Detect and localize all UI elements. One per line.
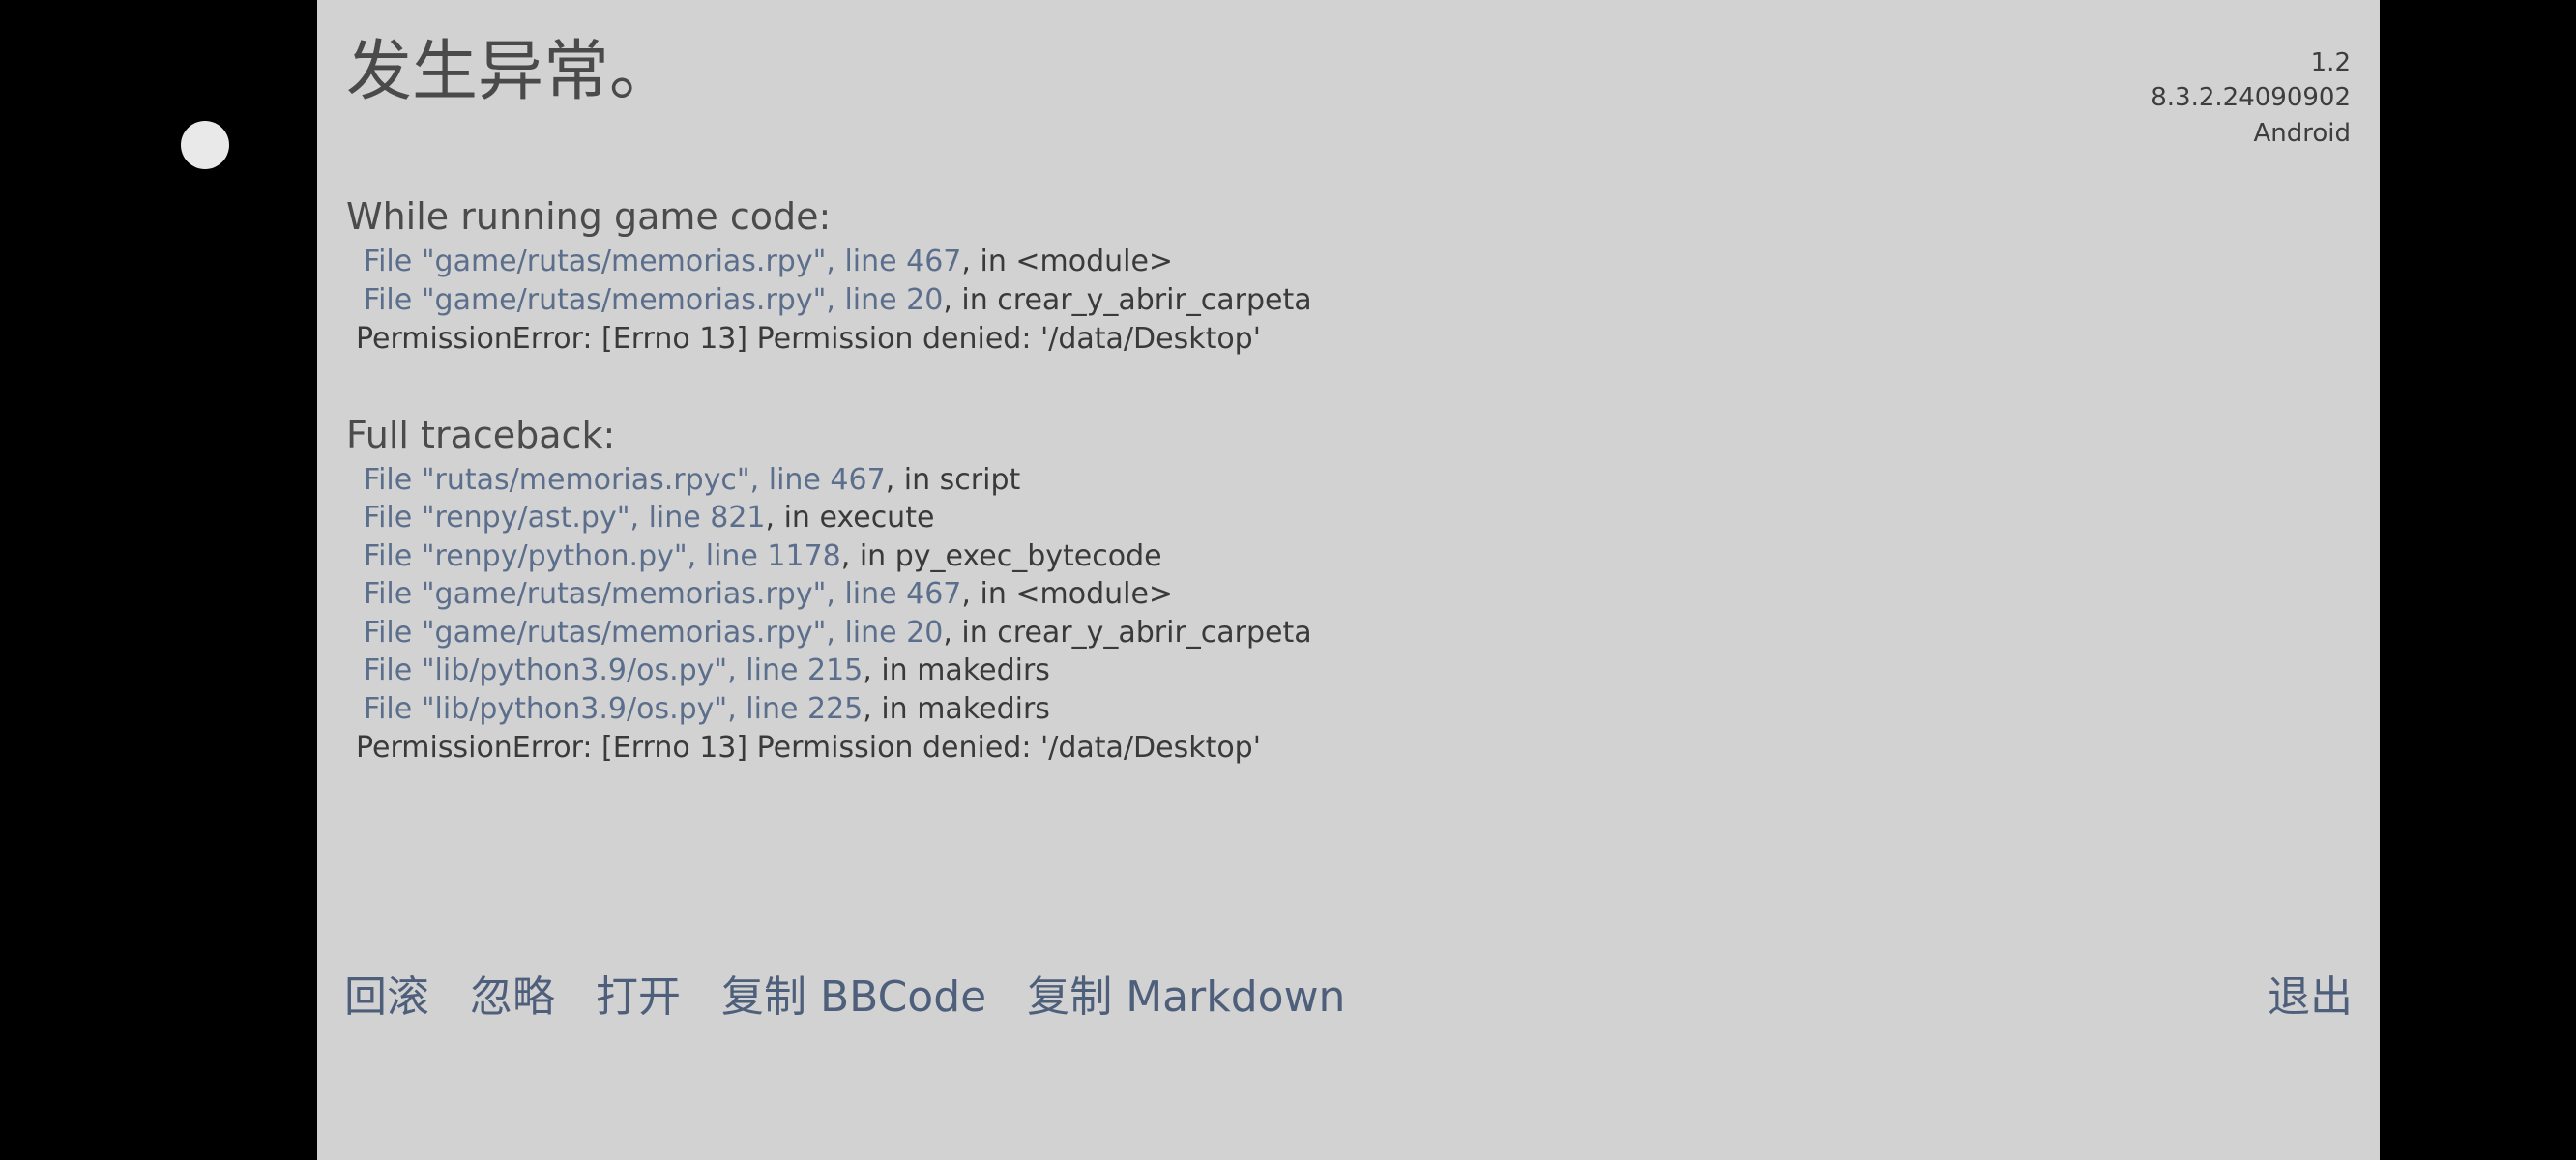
traceback-frame-context: , in crear_y_abrir_carpeta (943, 283, 1311, 317)
traceback-file-link[interactable]: File "lib/python3.9/os.py", line 225 (364, 692, 863, 726)
open-button[interactable]: 打开 (596, 976, 681, 1019)
traceback-file-link[interactable]: File "game/rutas/memorias.rpy", line 20 (364, 283, 943, 317)
action-bar-right-group: 退出 (2268, 976, 2353, 1019)
quit-button[interactable]: 退出 (2268, 976, 2353, 1019)
traceback-frame-context: , in py_exec_bytecode (841, 539, 1162, 573)
traceback-file-link[interactable]: File "game/rutas/memorias.rpy", line 20 (364, 616, 943, 650)
version-line-renpy: 1.2 (2151, 50, 2351, 76)
traceback-file-link[interactable]: File "lib/python3.9/os.py", line 215 (364, 653, 863, 687)
copy-bbcode-button[interactable]: 复制 BBCode (721, 976, 986, 1019)
traceback-frame-context: , in script (886, 463, 1021, 497)
traceback-content: While running game code:File "game/rutas… (346, 198, 2280, 768)
traceback-frame-context: , in makedirs (863, 692, 1050, 726)
exception-panel: 发生异常。 1.2 8.3.2.24090902 Android While r… (317, 0, 2380, 1160)
traceback-frame-context: , in <module> (961, 577, 1173, 611)
version-info: 1.2 8.3.2.24090902 Android (2151, 50, 2351, 156)
action-bar-left-group: 回滚忽略打开复制 BBCode复制 Markdown (344, 976, 1386, 1019)
exception-message: PermissionError: [Errno 13] Permission d… (346, 320, 2280, 359)
action-bar: 回滚忽略打开复制 BBCode复制 Markdown 退出 (317, 976, 2380, 1063)
traceback-frame: File "lib/python3.9/os.py", line 225, in… (346, 690, 2280, 729)
page-title: 发生异常。 (346, 37, 675, 109)
traceback-frame: File "game/rutas/memorias.rpy", line 467… (346, 243, 2280, 281)
traceback-file-link[interactable]: File "renpy/python.py", line 1178 (364, 539, 841, 573)
traceback-frame: File "lib/python3.9/os.py", line 215, in… (346, 652, 2280, 690)
traceback-file-link[interactable]: File "rutas/memorias.rpyc", line 467 (364, 463, 886, 497)
traceback-frame-context: , in execute (766, 501, 935, 535)
exception-screen: 发生异常。 1.2 8.3.2.24090902 Android While r… (0, 0, 2576, 1160)
traceback-frame-context: , in makedirs (863, 653, 1050, 687)
traceback-file-link[interactable]: File "renpy/ast.py", line 821 (364, 501, 766, 535)
traceback-frame: File "rutas/memorias.rpyc", line 467, in… (346, 461, 2280, 500)
version-line-build: 8.3.2.24090902 (2151, 85, 2351, 111)
copy-markdown-button[interactable]: 复制 Markdown (1027, 976, 1345, 1019)
exception-message: PermissionError: [Errno 13] Permission d… (346, 729, 2280, 768)
section-gap (346, 359, 2280, 417)
section-heading: Full traceback: (346, 417, 2280, 453)
version-line-platform: Android (2151, 121, 2351, 147)
traceback-scroll-viewport[interactable]: While running game code:File "game/rutas… (317, 198, 2380, 962)
cursor-indicator-dot (181, 121, 229, 169)
rollback-button[interactable]: 回滚 (344, 976, 429, 1019)
traceback-frame: File "game/rutas/memorias.rpy", line 20,… (346, 281, 2280, 320)
traceback-file-link[interactable]: File "game/rutas/memorias.rpy", line 467 (364, 245, 961, 278)
traceback-frame: File "game/rutas/memorias.rpy", line 467… (346, 575, 2280, 614)
exception-header: 发生异常。 1.2 8.3.2.24090902 Android (317, 0, 2380, 193)
section-heading: While running game code: (346, 198, 2280, 235)
traceback-frame: File "renpy/ast.py", line 821, in execut… (346, 499, 2280, 537)
ignore-button[interactable]: 忽略 (470, 976, 555, 1019)
traceback-frame: File "game/rutas/memorias.rpy", line 20,… (346, 614, 2280, 652)
traceback-frame: File "renpy/python.py", line 1178, in py… (346, 537, 2280, 576)
traceback-frame-context: , in <module> (961, 245, 1173, 278)
traceback-file-link[interactable]: File "game/rutas/memorias.rpy", line 467 (364, 577, 961, 611)
traceback-frame-context: , in crear_y_abrir_carpeta (943, 616, 1311, 650)
